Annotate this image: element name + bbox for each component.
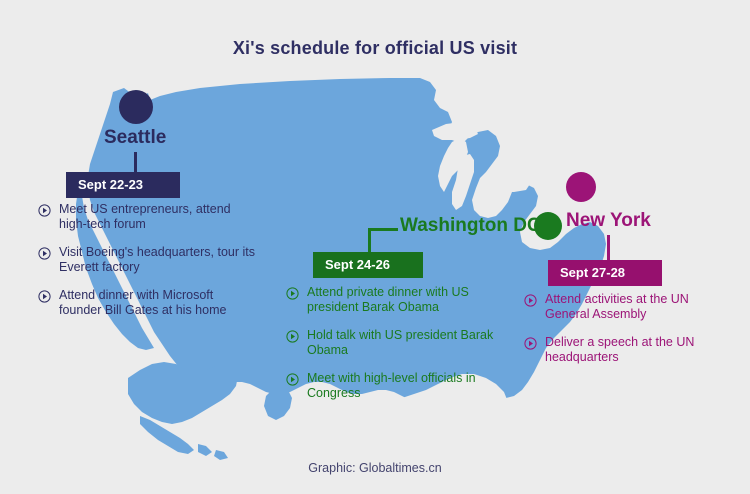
city-label-seattle: Seattle [104,127,166,149]
list-item-text: Attend dinner with Microsoft founder Bil… [59,288,256,318]
connector-new-york [607,235,610,261]
play-circle-icon [524,337,537,350]
list-item-text: Visit Boeing's headquarters, tour its Ev… [59,245,256,275]
alaska-shape [128,362,238,424]
city-label-new-york: New York [566,210,651,232]
marker-seattle [119,90,153,124]
list-item: Hold talk with US president Barak Obama [286,328,498,358]
schedule-list-washington-dc: Attend private dinner with US president … [286,285,498,414]
page-title: Xi's schedule for official US visit [0,38,750,59]
play-circle-icon [38,290,51,303]
infographic-canvas: Xi's schedule for official US visit Seat… [0,0,750,494]
list-item: Deliver a speech at the UN headquarters [524,335,734,365]
list-item: Attend activities at the UN General Asse… [524,292,734,322]
play-circle-icon [286,330,299,343]
date-badge-new-york: Sept 27-28 [548,260,662,286]
list-item: Meet with high-level officials in Congre… [286,371,498,401]
list-item: Attend private dinner with US president … [286,285,498,315]
list-item: Visit Boeing's headquarters, tour its Ev… [38,245,256,275]
list-item-text: Meet US entrepreneurs, attend high-tech … [59,202,256,232]
alaska-islands-shape [198,444,228,460]
date-badge-washington-dc: Sept 24-26 [313,252,423,278]
list-item-text: Meet with high-level officials in Congre… [307,371,498,401]
city-label-washington-dc: Washington DC [400,215,541,237]
schedule-list-new-york: Attend activities at the UN General Asse… [524,292,734,378]
list-item-text: Attend activities at the UN General Asse… [545,292,734,322]
list-item-text: Hold talk with US president Barak Obama [307,328,498,358]
graphic-credit: Graphic: Globaltimes.cn [0,461,750,475]
schedule-list-seattle: Meet US entrepreneurs, attend high-tech … [38,202,256,331]
list-item-text: Deliver a speech at the UN headquarters [545,335,734,365]
connector-washington-dc-vertical [368,228,371,253]
play-circle-icon [286,373,299,386]
marker-new-york [566,172,596,202]
play-circle-icon [286,287,299,300]
list-item: Meet US entrepreneurs, attend high-tech … [38,202,256,232]
connector-washington-dc-horizontal [368,228,398,231]
play-circle-icon [38,204,51,217]
list-item: Attend dinner with Microsoft founder Bil… [38,288,256,318]
play-circle-icon [38,247,51,260]
date-badge-seattle: Sept 22-23 [66,172,180,198]
lake-erie-ontario-shape [486,176,530,192]
list-item-text: Attend private dinner with US president … [307,285,498,315]
play-circle-icon [524,294,537,307]
